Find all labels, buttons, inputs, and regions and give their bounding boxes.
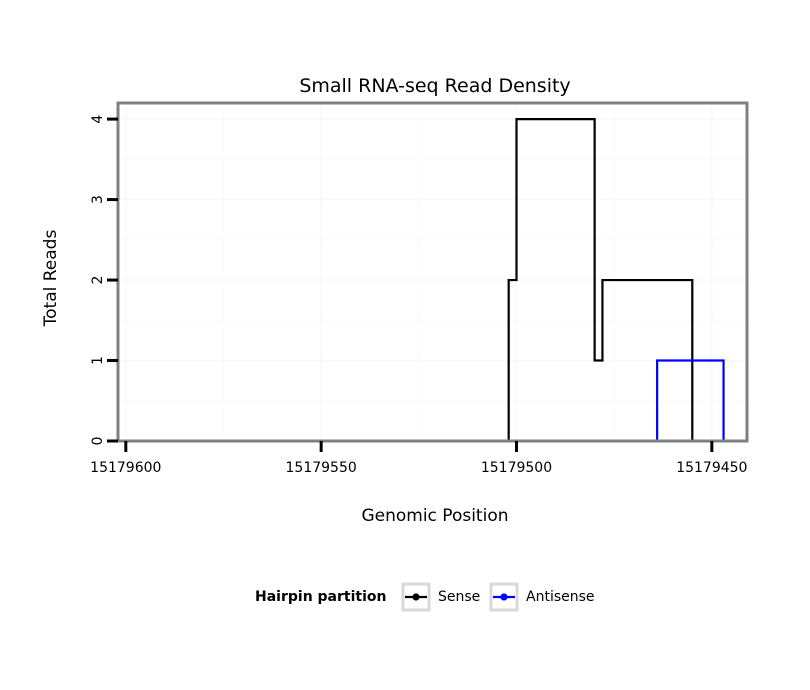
y-tick-label: 3 [90, 195, 106, 204]
plot-panel-background [118, 103, 747, 441]
x-tick-label: 15179600 [90, 460, 161, 476]
legend-entry-label: Sense [438, 589, 480, 605]
legend-entry-label: Antisense [526, 589, 595, 605]
legend-title: Hairpin partition [255, 589, 386, 605]
y-tick-label: 0 [90, 437, 106, 446]
chart-title: Small RNA-seq Read Density [299, 75, 570, 97]
legend-key-point [412, 593, 419, 600]
y-tick-label: 1 [90, 356, 106, 365]
x-tick-label: 15179450 [676, 460, 747, 476]
x-tick-label: 15179500 [481, 460, 552, 476]
x-tick-label: 15179550 [286, 460, 357, 476]
chart-figure: Small RNA-seq Read Density 01234 1517960… [0, 0, 810, 690]
x-axis-title: Genomic Position [361, 506, 508, 526]
legend-key-point [500, 593, 507, 600]
y-tick-label: 4 [90, 115, 106, 124]
y-axis-title: Total Reads [41, 230, 61, 328]
read-density-plot: Small RNA-seq Read Density 01234 1517960… [0, 0, 810, 690]
y-tick-label: 2 [90, 276, 106, 285]
